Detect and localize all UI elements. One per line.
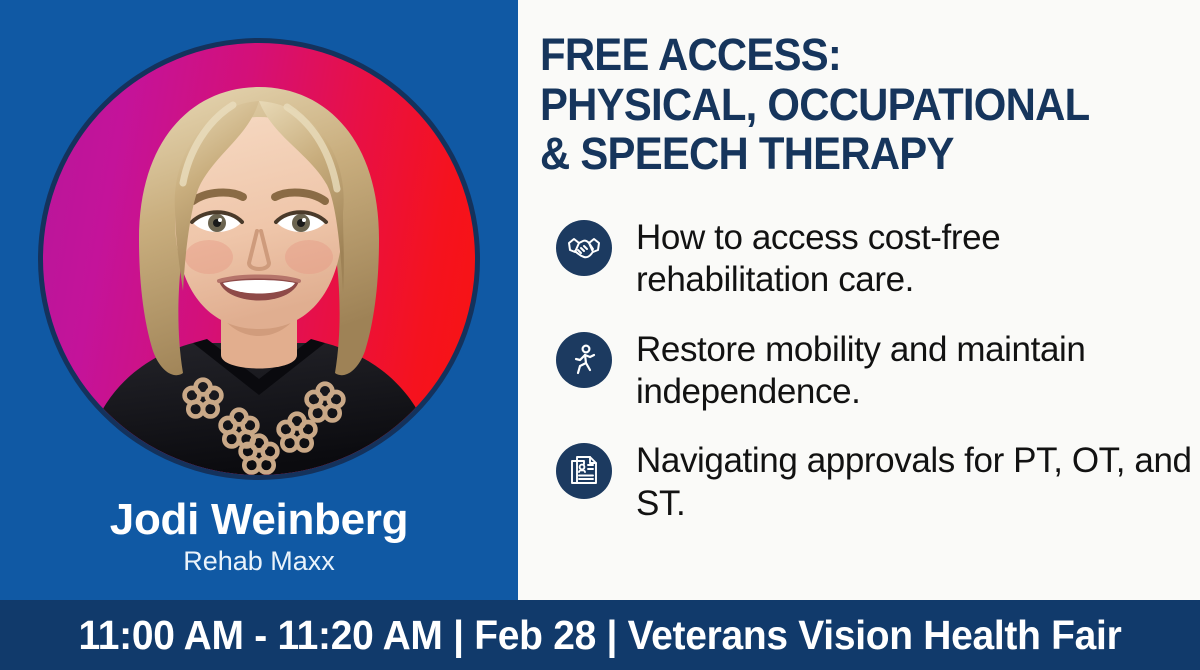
list-item: How to access cost-free rehabilitation c… [556,216,1196,302]
speaker-portrait [43,43,475,475]
headline-line-3: & SPEECH THERAPY [540,129,1145,179]
document-approval-icon [556,443,612,499]
list-item: Navigating approvals for PT, OT, and ST. [556,439,1196,525]
headline-line-1: FREE ACCESS: [540,30,1145,80]
event-details-text: 11:00 AM - 11:20 AM | Feb 28 | Veterans … [30,600,1170,670]
event-details-bar: 11:00 AM - 11:20 AM | Feb 28 | Veterans … [0,600,1200,670]
event-promo-poster: Jodi Weinberg Rehab Maxx FREE ACCESS: PH… [0,0,1200,670]
speaker-panel: Jodi Weinberg Rehab Maxx [0,0,518,600]
speaker-name: Jodi Weinberg [0,498,518,542]
topic-list: How to access cost-free rehabilitation c… [556,216,1196,551]
walking-person-icon [556,332,612,388]
headline-line-2: PHYSICAL, OCCUPATIONAL [540,80,1145,130]
handshake-icon [556,220,612,276]
list-item: Restore mobility and maintain independen… [556,328,1196,414]
list-item-label: Navigating approvals for PT, OT, and ST. [636,439,1196,525]
content-panel: FREE ACCESS: PHYSICAL, OCCUPATIONAL & SP… [518,0,1200,600]
page-title: FREE ACCESS: PHYSICAL, OCCUPATIONAL & SP… [540,30,1145,179]
speaker-organization: Rehab Maxx [0,548,518,575]
list-item-label: Restore mobility and maintain independen… [636,328,1196,414]
list-item-label: How to access cost-free rehabilitation c… [636,216,1196,302]
speaker-portrait-ring [38,38,480,480]
speaker-portrait-illustration [43,43,475,475]
